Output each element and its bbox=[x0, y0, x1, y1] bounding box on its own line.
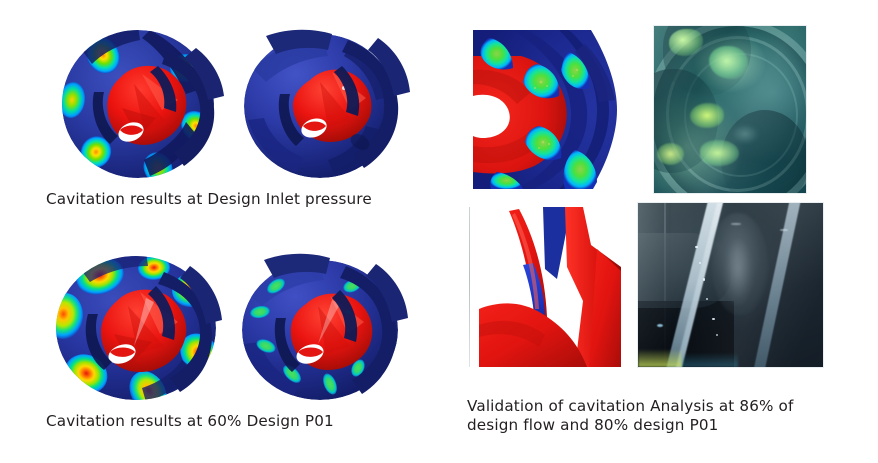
cfd-blade-closeup bbox=[479, 205, 621, 367]
caption-design-inlet-pressure: Cavitation results at Design Inlet press… bbox=[46, 190, 446, 209]
caption-validation: Validation of cavitation Analysis at 86%… bbox=[467, 397, 867, 435]
impeller-design-view-a bbox=[46, 22, 236, 180]
test-rig-blade-photo bbox=[638, 203, 823, 367]
right-panel-group: Validation of cavitation Analysis at 86%… bbox=[455, 0, 878, 463]
impeller-design-view-b bbox=[232, 22, 418, 180]
impeller-60pct-view-a bbox=[42, 250, 234, 402]
impeller-60pct-view-b bbox=[230, 250, 418, 402]
cfd-impeller-closeup bbox=[473, 26, 621, 193]
figure-canvas: Cavitation results at Design Inlet press… bbox=[0, 0, 878, 463]
caption-60pct-design-p01: Cavitation results at 60% Design P01 bbox=[46, 412, 446, 431]
blade-photo-content bbox=[638, 203, 823, 367]
panel-divider-rule bbox=[469, 207, 470, 367]
left-panel-group: Cavitation results at Design Inlet press… bbox=[0, 0, 455, 463]
test-rig-impeller-photo bbox=[654, 26, 806, 193]
impeller-photo-content bbox=[654, 26, 806, 193]
